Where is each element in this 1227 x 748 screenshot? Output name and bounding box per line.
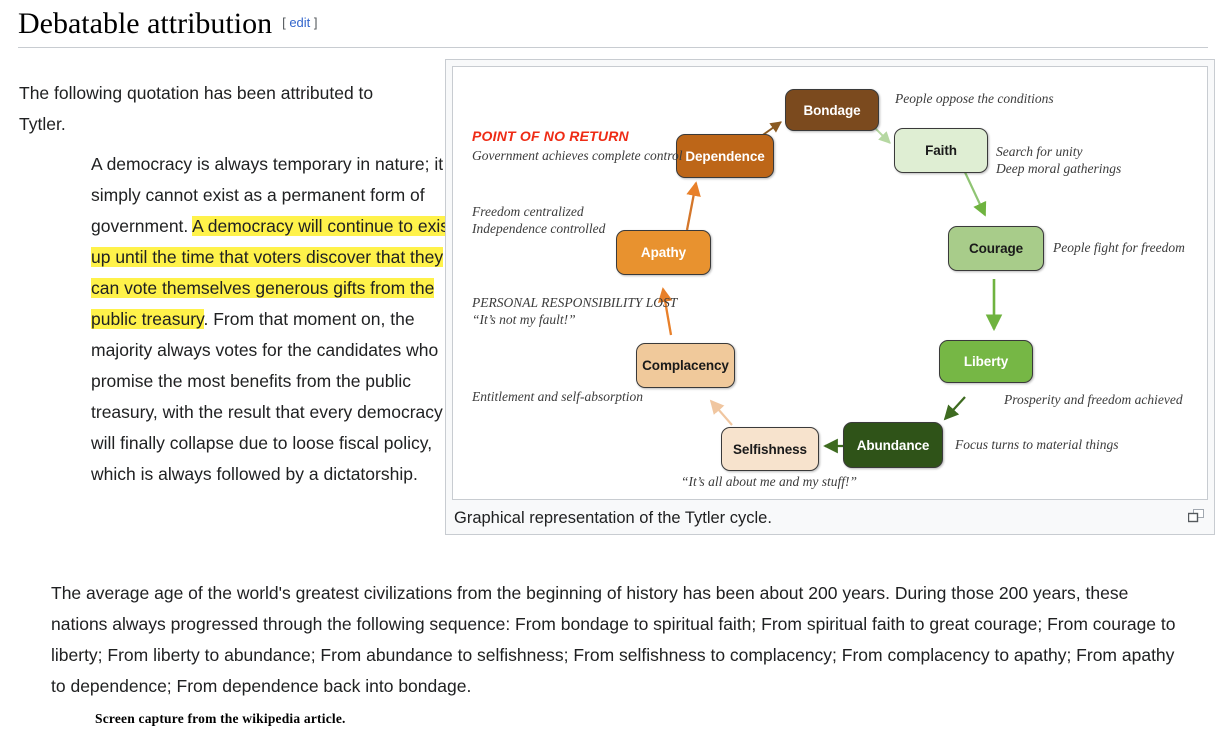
annotation-search-for-unity: Search for unity Deep moral gatherings bbox=[996, 143, 1121, 177]
arrow-selfishness-to-complacency bbox=[711, 401, 732, 425]
tytler-quotation: A democracy is always temporary in natur… bbox=[91, 149, 463, 490]
page-title: Debatable attribution bbox=[18, 6, 272, 42]
node-apathy[interactable]: Apathy bbox=[616, 230, 711, 275]
annotation-people-fight: People fight for freedom bbox=[1053, 239, 1185, 256]
node-abundance[interactable]: Abundance bbox=[843, 422, 943, 468]
diagram-image[interactable]: Bondage Faith Courage Liberty Abundance … bbox=[452, 66, 1208, 500]
annotation-all-about-me: “It’s all about me and my stuff!” bbox=[681, 473, 857, 490]
node-faith[interactable]: Faith bbox=[894, 128, 988, 173]
edit-section-link-group: [ edit ] bbox=[282, 15, 317, 30]
heading-divider bbox=[18, 47, 1208, 48]
tytler-cycle-diagram: Bondage Faith Courage Liberty Abundance … bbox=[453, 67, 1207, 499]
node-dependence-label: Dependence bbox=[685, 149, 764, 164]
arrow-faith-to-courage bbox=[963, 168, 985, 215]
node-abundance-label: Abundance bbox=[857, 438, 930, 453]
tail-paragraph: The average age of the world's greatest … bbox=[51, 578, 1181, 702]
node-selfishness-label: Selfishness bbox=[733, 442, 807, 457]
annotation-focus-material: Focus turns to material things bbox=[955, 436, 1119, 453]
node-liberty-label: Liberty bbox=[964, 354, 1008, 369]
edit-bracket-open: [ bbox=[282, 15, 286, 30]
annotation-government-control: Government achieves complete control bbox=[472, 147, 683, 164]
arrow-apathy-to-dependence bbox=[687, 183, 696, 230]
node-liberty[interactable]: Liberty bbox=[939, 340, 1033, 383]
edit-link[interactable]: edit bbox=[289, 15, 310, 30]
annotation-prosperity: Prosperity and freedom achieved bbox=[1004, 391, 1183, 408]
node-faith-label: Faith bbox=[925, 143, 957, 158]
enlarge-icon[interactable] bbox=[1188, 509, 1204, 523]
node-bondage[interactable]: Bondage bbox=[785, 89, 879, 131]
annotation-personal-responsibility-lost: PERSONAL RESPONSIBILITY LOST “It’s not m… bbox=[472, 294, 677, 328]
node-dependence[interactable]: Dependence bbox=[676, 134, 774, 178]
screen-capture-footnote: Screen capture from the wikipedia articl… bbox=[95, 711, 346, 727]
annotation-freedom-centralized: Freedom centralized Independence control… bbox=[472, 203, 605, 237]
node-bondage-label: Bondage bbox=[803, 103, 860, 118]
node-courage[interactable]: Courage bbox=[948, 226, 1044, 271]
quote-part-after: . From that moment on, the majority alwa… bbox=[91, 309, 443, 484]
thumbnail-caption: Graphical representation of the Tytler c… bbox=[454, 507, 772, 529]
arrow-liberty-to-abundance bbox=[945, 397, 965, 419]
node-complacency-label: Complacency bbox=[642, 358, 729, 373]
section-heading-block: Debatable attribution[ edit ] bbox=[18, 6, 1208, 42]
image-thumbnail-frame: Bondage Faith Courage Liberty Abundance … bbox=[445, 59, 1215, 535]
intro-paragraph: The following quotation has been attribu… bbox=[19, 78, 423, 140]
node-selfishness[interactable]: Selfishness bbox=[721, 427, 819, 471]
node-apathy-label: Apathy bbox=[641, 245, 686, 260]
edit-bracket-close: ] bbox=[314, 15, 318, 30]
annotation-point-of-no-return-title: POINT OF NO RETURN bbox=[472, 128, 629, 144]
annotation-people-oppose: People oppose the conditions bbox=[895, 90, 1054, 107]
thumbnail-caption-row: Graphical representation of the Tytler c… bbox=[446, 503, 1214, 534]
node-courage-label: Courage bbox=[969, 241, 1023, 256]
node-complacency[interactable]: Complacency bbox=[636, 343, 735, 388]
annotation-entitlement: Entitlement and self-absorption bbox=[472, 388, 643, 405]
